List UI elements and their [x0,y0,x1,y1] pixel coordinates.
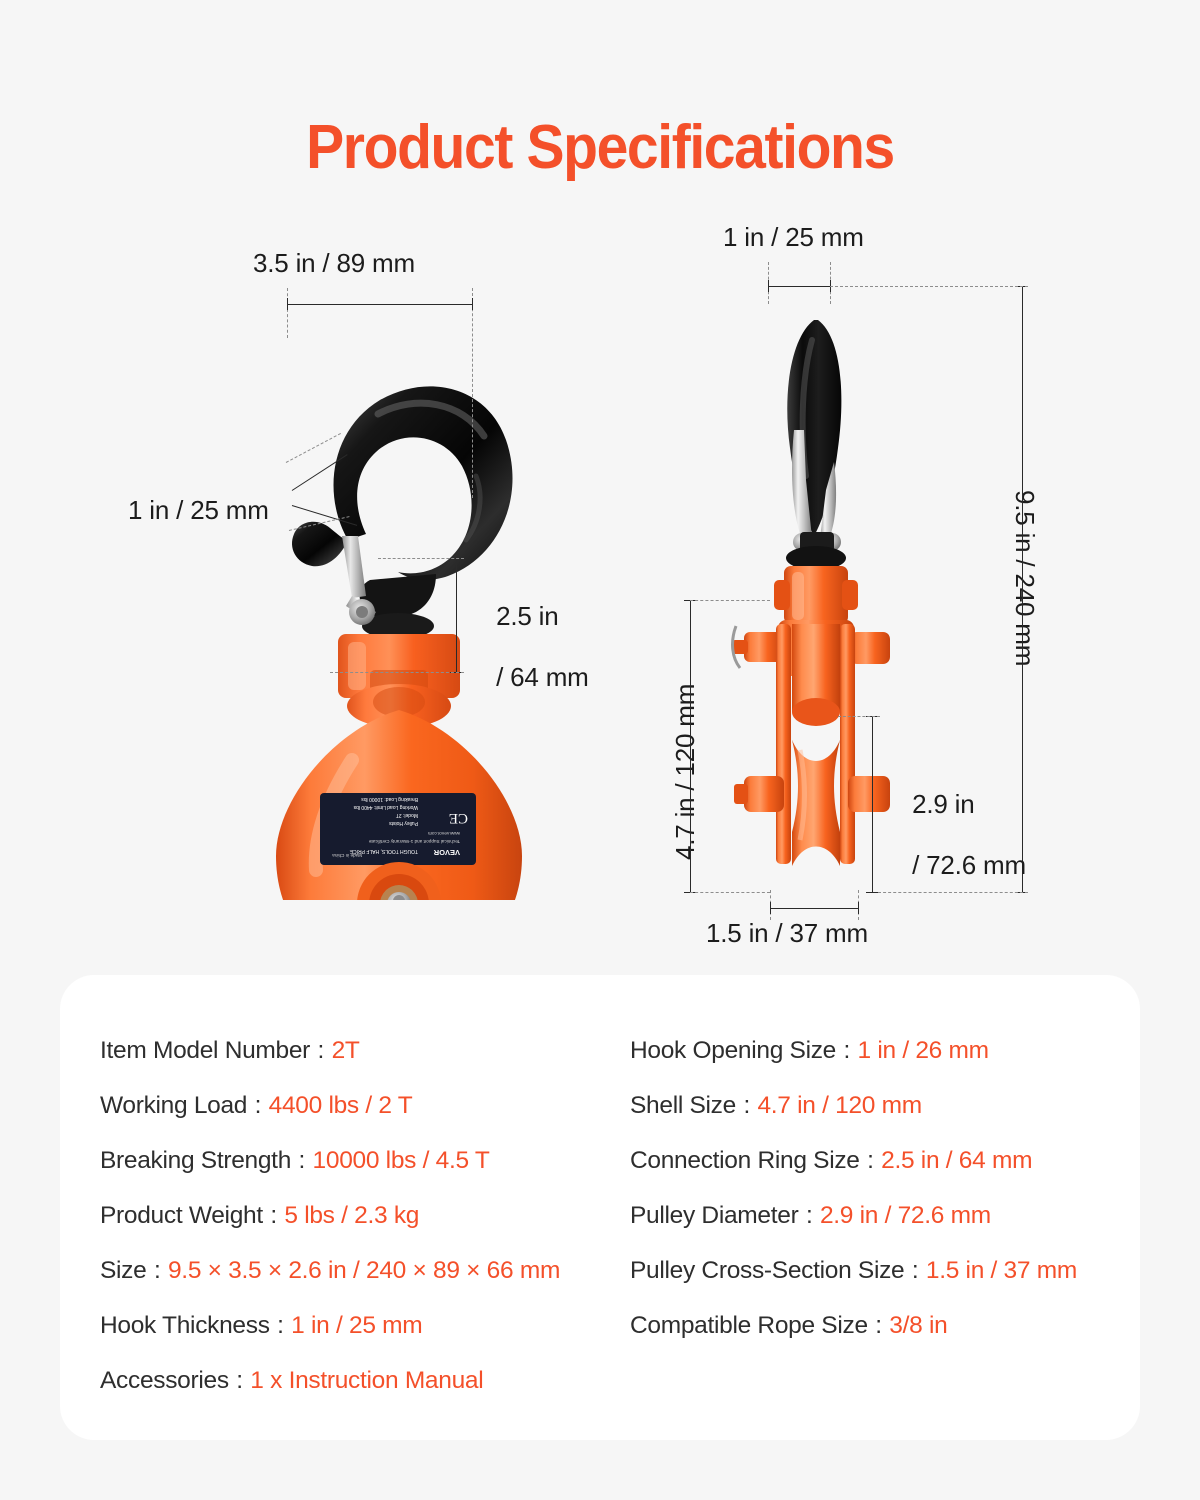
spec-label: Breaking Strength [100,1147,298,1174]
dim-pulley-cross-section-line [770,908,858,909]
spec-row: Working Load : 4400 lbs / 2 T [100,1078,600,1133]
spec-separator: : [874,1312,889,1339]
dim-connection-ring-line1: 2.5 in [496,601,558,631]
spec-label: Compatible Rope Size [630,1312,874,1339]
spec-separator: : [742,1092,757,1119]
spec-label: Connection Ring Size [630,1147,866,1174]
spec-value: 4400 lbs / 2 T [269,1092,413,1119]
dim-pulley-cross-tick-right [858,902,859,914]
svg-text:Working Load Limit: 4400 lbs: Working Load Limit: 4400 lbs [353,804,418,810]
svg-text:CE: CE [449,810,468,826]
product-diagram: VEVOR TOUGH TOOLS, HALF PRICE Technical … [0,200,1200,960]
spec-value: 5 lbs / 2.3 kg [284,1202,419,1229]
spec-row: Shell Size : 4.7 in / 120 mm [630,1078,1140,1133]
dim-hook-width-ext-left [287,288,288,338]
spec-row: Pulley Diameter : 2.9 in / 72.6 mm [630,1188,1140,1243]
spec-row: Pulley Cross-Section Size : 1.5 in / 37 … [630,1243,1140,1298]
dim-pulley-diameter-line1: 2.9 in [912,789,974,819]
spec-column-left: Item Model Number : 2TWorking Load : 440… [60,1023,600,1408]
svg-text:VEVOR: VEVOR [433,848,460,857]
spec-separator: : [269,1202,284,1229]
spec-label: Hook Opening Size [630,1037,843,1064]
spec-row: Breaking Strength : 10000 lbs / 4.5 T [100,1133,600,1188]
spec-column-right: Hook Opening Size : 1 in / 26 mmShell Si… [600,1023,1140,1408]
svg-text:Technical Support and 1-Warran: Technical Support and 1-Warranty Certifi… [368,839,460,844]
spec-label: Pulley Cross-Section Size [630,1257,911,1284]
dim-overall-height-ext-top [830,286,1028,287]
spec-separator: : [805,1202,820,1229]
spec-value: 1 in / 25 mm [291,1312,422,1339]
spec-separator: : [911,1257,926,1284]
dim-pulley-diameter-label: 2.9 in / 72.6 mm [884,758,1026,911]
page-title: Product Specifications [48,112,1152,183]
dim-shell-size-ext-bottom [690,892,770,893]
dim-connection-ring-line2: / 64 mm [496,662,589,692]
specifications-card: Item Model Number : 2TWorking Load : 440… [60,975,1140,1440]
dim-overall-height-label: 9.5 in / 240 mm [1009,490,1040,666]
spec-separator: : [866,1147,881,1174]
spec-row: Compatible Rope Size : 3/8 in [630,1298,1140,1353]
spec-separator: : [254,1092,269,1119]
dim-pulley-diameter-tick-bottom [866,892,878,893]
dim-hook-thickness-top-line [768,286,830,287]
dim-pulley-cross-tick-left [770,902,771,914]
dim-hook-width-label: 3.5 in / 89 mm [253,248,415,279]
svg-text:www.vevor.com: www.vevor.com [428,831,460,836]
dim-hook-width-tick-left [287,298,288,310]
spec-row: Hook Thickness : 1 in / 25 mm [100,1298,600,1353]
spec-value: 2T [332,1037,360,1064]
spec-value: 1 in / 26 mm [858,1037,989,1064]
dim-pulley-diameter-line [872,716,873,892]
spec-value: 9.5 × 3.5 × 2.6 in / 240 × 89 × 66 mm [168,1257,560,1284]
spec-label: Size [100,1257,153,1284]
spec-row: Size : 9.5 × 3.5 × 2.6 in / 240 × 89 × 6… [100,1243,600,1298]
dim-pulley-diameter-line2: / 72.6 mm [912,850,1026,880]
dim-hook-width-line [287,304,473,305]
spec-separator: : [317,1037,332,1064]
dim-hook-thickness-label: 1 in / 25 mm [128,495,269,526]
spec-row: Product Weight : 5 lbs / 2.3 kg [100,1188,600,1243]
dim-hook-width-ext-right [472,288,473,498]
spec-row: Connection Ring Size : 2.5 in / 64 mm [630,1133,1140,1188]
spec-label: Accessories [100,1367,235,1394]
spec-separator: : [298,1147,313,1174]
spec-row: Item Model Number : 2T [100,1023,600,1078]
spec-value: 2.5 in / 64 mm [881,1147,1032,1174]
spec-label: Hook Thickness [100,1312,276,1339]
spec-label: Shell Size [630,1092,742,1119]
dim-pulley-diameter-ext-top [838,716,880,717]
dim-hook-thickness-top-label: 1 in / 25 mm [723,222,864,253]
dim-connection-ring-line [456,558,457,672]
spec-value: 2.9 in / 72.6 mm [820,1202,991,1229]
spec-label: Pulley Diameter [630,1202,805,1229]
spec-label: Item Model Number [100,1037,317,1064]
svg-text:Breaking Load: 10000 lbs: Breaking Load: 10000 lbs [361,796,418,802]
dim-connection-ring-ext-bottom [330,672,464,673]
dim-shell-size-label: 4.7 in / 120 mm [670,684,701,860]
dim-shell-size-ext-top [690,600,770,601]
dim-pulley-cross-section-label: 1.5 in / 37 mm [706,918,868,949]
spec-separator: : [235,1367,250,1394]
spec-row: Hook Opening Size : 1 in / 26 mm [630,1023,1140,1078]
svg-text:Pulley Hoists: Pulley Hoists [389,820,418,826]
spec-value: 10000 lbs / 4.5 T [313,1147,490,1174]
dim-shell-size-line [690,600,691,892]
spec-label: Product Weight [100,1202,269,1229]
spec-value: 4.7 in / 120 mm [757,1092,921,1119]
dim-connection-ring-ext-top [378,558,464,559]
dim-hook-width-tick-right [472,298,473,310]
spec-value: 3/8 in [889,1312,947,1339]
spec-separator: : [153,1257,168,1284]
svg-text:Model: 2T: Model: 2T [396,812,418,818]
dim-connection-ring-label: 2.5 in / 64 mm [468,570,589,723]
spec-row: Accessories : 1 x Instruction Manual [100,1353,600,1408]
dim-hook-thickness-top-tick-left [768,280,769,292]
spec-value: 1 x Instruction Manual [250,1367,483,1394]
svg-text:Made in China: Made in China [332,853,362,858]
spec-value: 1.5 in / 37 mm [926,1257,1077,1284]
spec-separator: : [843,1037,858,1064]
spec-label: Working Load [100,1092,254,1119]
spec-separator: : [276,1312,291,1339]
